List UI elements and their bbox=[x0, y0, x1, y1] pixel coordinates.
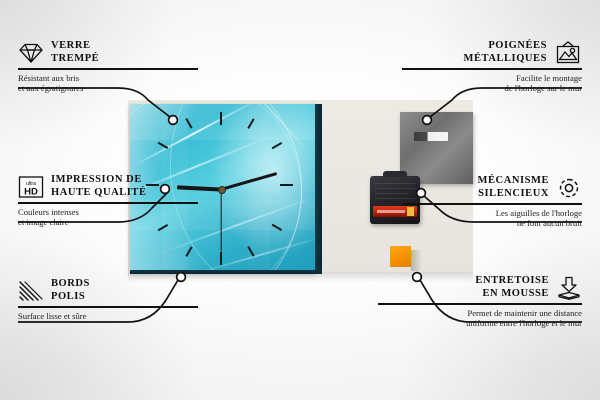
callout-title-line1: MÉCANISME bbox=[478, 175, 549, 188]
infographic-canvas: VERRE TREMPÉ Résistant aux bris et aux é… bbox=[0, 0, 600, 400]
callout-desc-line1: Permet de maintenir une distance bbox=[378, 308, 582, 319]
ultra-hd-icon: ultra HD bbox=[18, 175, 44, 199]
callout-desc-line2: et image claire bbox=[18, 217, 198, 228]
callout-title-line1: IMPRESSION DE bbox=[51, 174, 147, 187]
svg-text:HD: HD bbox=[24, 186, 38, 197]
hanger-slot bbox=[414, 132, 448, 141]
callout-rule bbox=[18, 68, 198, 70]
callout-desc-line2: et aux égratignures bbox=[18, 83, 198, 94]
callout-title-line2: POLIS bbox=[51, 291, 90, 304]
callout-desc-line2: ne font aucun bruit bbox=[402, 218, 582, 229]
callout-desc-line2: uniforme entre l'horloge et le mur bbox=[378, 318, 582, 329]
callout-desc-line1: Facilite le montage bbox=[402, 73, 582, 84]
callout-title-line2: MÉTALLIQUES bbox=[464, 53, 547, 66]
callout-desc-line1: Résistant aux bris bbox=[18, 73, 198, 84]
foam-spacer-shadow bbox=[411, 250, 422, 271]
callout-desc-line1: Couleurs intenses bbox=[18, 207, 198, 218]
callout-impression-haute-qualite: ultra HD IMPRESSION DE HAUTE QUALITÉ Cou… bbox=[18, 174, 198, 228]
callout-rule bbox=[402, 68, 582, 70]
callout-rule bbox=[402, 203, 582, 205]
callout-title-line1: VERRE bbox=[51, 40, 99, 53]
callout-desc-line1: Les aiguilles de l'horloge bbox=[402, 208, 582, 219]
foam-spacer-arrow-icon bbox=[556, 276, 582, 300]
foam-spacer bbox=[390, 246, 411, 267]
callout-bords-polis: BORDS POLIS Surface lisse et sûre bbox=[18, 278, 198, 321]
callout-poignees-metalliques: POIGNÉES MÉTALLIQUES Facilite le montage… bbox=[402, 40, 582, 94]
callout-title-line2: HAUTE QUALITÉ bbox=[51, 187, 147, 200]
callout-title-line1: ENTRETOISE bbox=[475, 275, 549, 288]
callout-title-line2: EN MOUSSE bbox=[475, 288, 549, 301]
callout-desc-line2: de l'horloge sur le mur bbox=[402, 83, 582, 94]
metal-hanger-plate bbox=[400, 112, 473, 184]
callout-title-line2: SILENCIEUX bbox=[478, 188, 549, 201]
panel-bottom-edge bbox=[130, 270, 322, 274]
gear-icon bbox=[556, 176, 582, 200]
clock-center-hub bbox=[218, 186, 226, 194]
callout-rule bbox=[18, 306, 198, 308]
callout-desc-line1: Surface lisse et sûre bbox=[18, 311, 198, 322]
callout-rule bbox=[378, 303, 582, 305]
panel-thickness-edge bbox=[315, 104, 322, 272]
callout-mecanisme-silencieux: MÉCANISME SILENCIEUX Les aiguilles de l'… bbox=[402, 175, 582, 229]
callout-title-line1: POIGNÉES bbox=[464, 40, 547, 53]
callout-title-line1: BORDS bbox=[51, 278, 90, 291]
callout-entretoise-en-mousse: ENTRETOISE EN MOUSSE Permet de maintenir… bbox=[378, 275, 582, 329]
hanging-frame-icon bbox=[554, 41, 582, 65]
clock-second-hand bbox=[220, 189, 221, 251]
polished-edge-icon bbox=[18, 280, 44, 302]
callout-title-line2: TREMPÉ bbox=[51, 53, 99, 66]
diamond-icon bbox=[18, 42, 44, 64]
callout-rule bbox=[18, 202, 198, 204]
callout-verre-trempe: VERRE TREMPÉ Résistant aux bris et aux é… bbox=[18, 40, 198, 94]
